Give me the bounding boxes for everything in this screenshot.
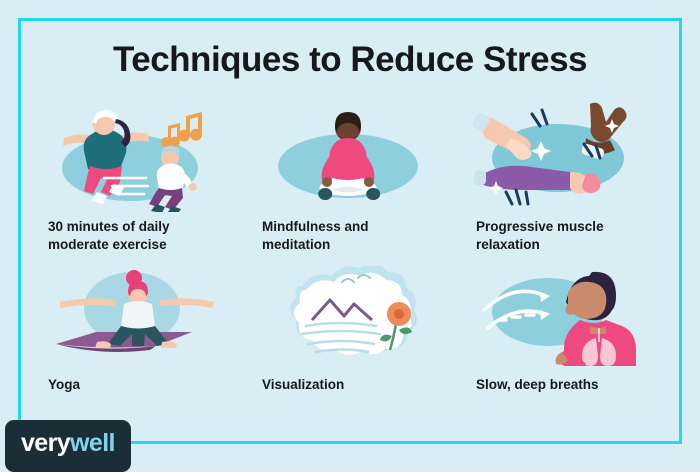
verywell-logo: verywell (5, 420, 131, 472)
stretching-limbs-icon (470, 100, 660, 212)
technique-card-muscle-relaxation: Progressive muscle relaxation (458, 100, 672, 254)
technique-label: Slow, deep breaths (470, 376, 660, 394)
technique-label: Visualization (256, 376, 446, 394)
technique-label: Mindfulness and meditation (256, 218, 446, 254)
infographic-canvas: Techniques to Reduce Stress (0, 0, 700, 466)
technique-card-visualization: Visualization (244, 266, 458, 394)
breathing-lungs-icon (470, 266, 660, 366)
logo-text-well: well (70, 429, 115, 457)
mountain-landscape-cloud-icon (256, 266, 446, 366)
technique-card-mindfulness: Mindfulness and meditation (244, 100, 458, 254)
techniques-grid: 30 minutes of daily moderate exercise (30, 100, 670, 393)
technique-label: 30 minutes of daily moderate exercise (42, 218, 232, 254)
yoga-warrior-pose-icon (42, 266, 232, 366)
technique-card-deep-breaths: Slow, deep breaths (458, 266, 672, 394)
logo-text-very: very (21, 429, 70, 457)
technique-label: Yoga (42, 376, 232, 394)
technique-card-exercise: 30 minutes of daily moderate exercise (30, 100, 244, 254)
technique-label: Progressive muscle relaxation (470, 218, 660, 254)
technique-card-yoga: Yoga (30, 266, 244, 394)
page-title: Techniques to Reduce Stress (0, 40, 700, 80)
running-people-icon (42, 100, 232, 212)
meditating-person-icon (256, 100, 446, 212)
